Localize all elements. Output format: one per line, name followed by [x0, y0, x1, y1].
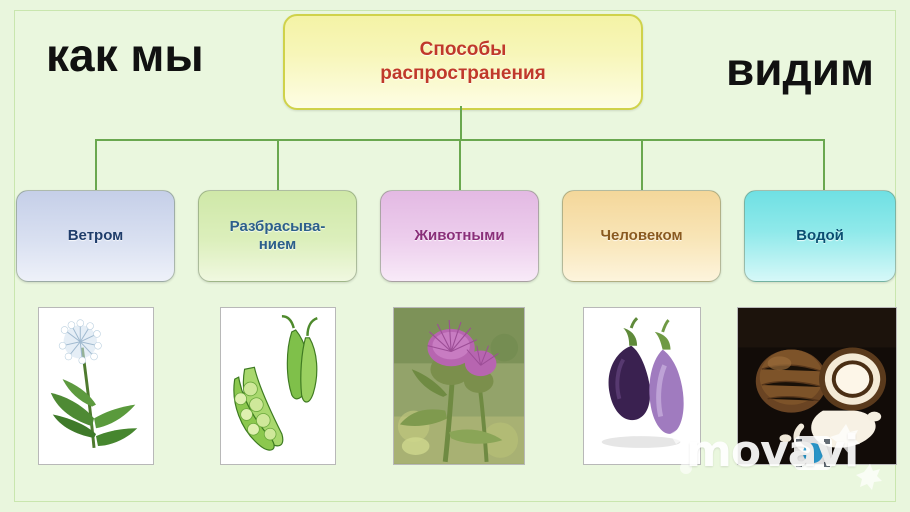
overlay-word-right: видим [726, 42, 874, 96]
diagram-root-label: Способы распространения [380, 38, 546, 86]
node-label-line2: нием [230, 236, 326, 254]
diagram-node-label: Животными [408, 227, 510, 245]
slide-canvas: как мы видим Способы распространения Вет… [0, 0, 910, 512]
diagram-node-vodoy: Водой [744, 190, 896, 282]
connector-root-stem [460, 106, 462, 140]
diagram-node-zhivotnymi: Животными [380, 190, 539, 282]
pea-pods-photo [220, 307, 336, 465]
dandelion-seedhead-photo [38, 307, 154, 465]
diagram-node-label: Человеком [594, 227, 688, 245]
root-label-line2: распространения [380, 62, 546, 86]
thistle-burdock-photo [393, 307, 525, 465]
movavi-watermark-text: movavi [686, 426, 858, 477]
connector-drop-1 [95, 139, 97, 191]
connector-drop-4 [641, 139, 643, 191]
diagram-node-label: Ветром [62, 227, 130, 245]
diagram-node-label: Разбрасыва- нием [224, 218, 332, 254]
diagram-node-chelovekom: Человеком [562, 190, 721, 282]
connector-drop-2 [277, 139, 279, 191]
diagram-node-label: Водой [790, 227, 850, 245]
node-label-line1: Разбрасыва- [230, 218, 326, 236]
overlay-word-left: как мы [46, 28, 204, 82]
connector-drop-3 [459, 139, 461, 191]
diagram-node-razbrasyvaniem: Разбрасыва- нием [198, 190, 357, 282]
diagram-node-vetrom: Ветром [16, 190, 175, 282]
connector-drop-5 [823, 139, 825, 191]
root-label-line1: Способы [380, 38, 546, 62]
diagram-root-node: Способы распространения [283, 14, 643, 110]
movavi-watermark: movavi [656, 418, 892, 490]
